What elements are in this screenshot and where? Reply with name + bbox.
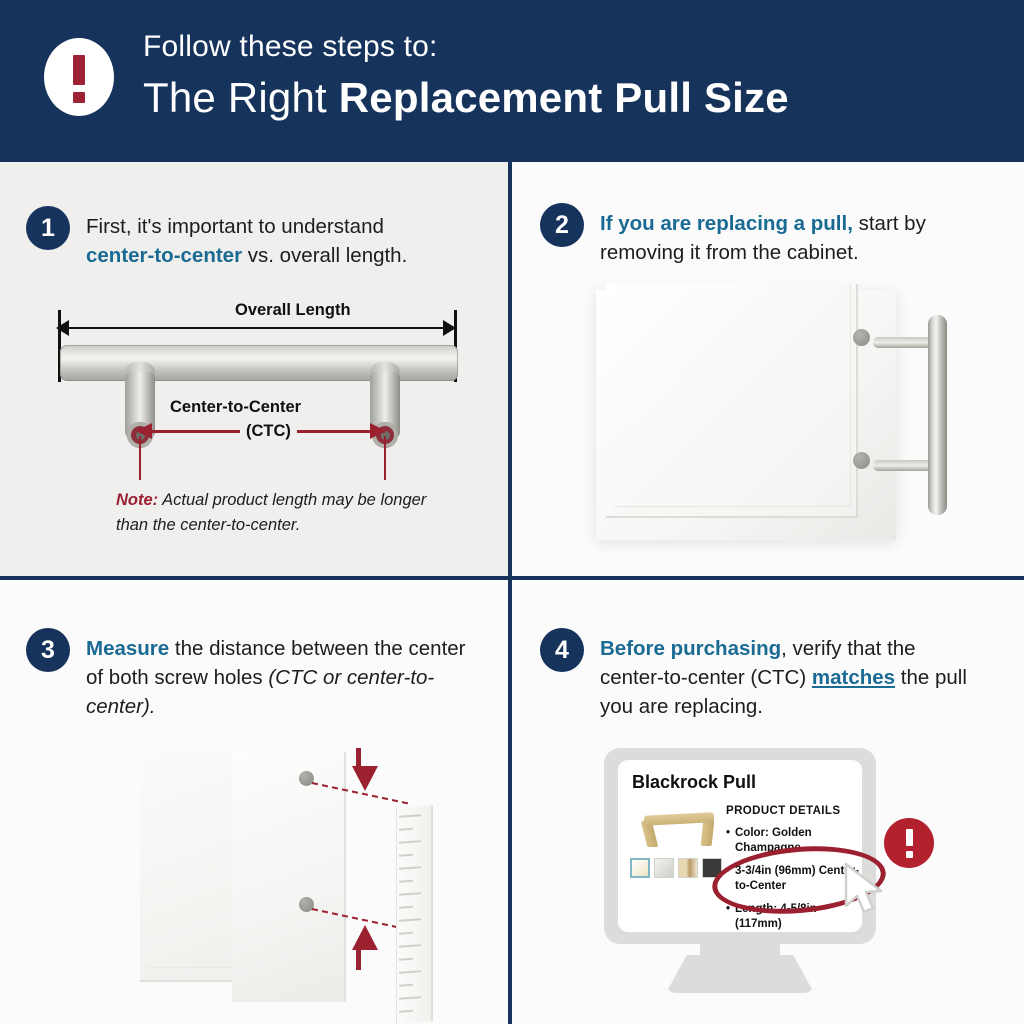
- overall-length-line: [58, 327, 456, 329]
- step-2-accent: If you are replacing a pull,: [600, 212, 853, 235]
- divider-vertical: [508, 158, 512, 1024]
- header-banner: Follow these steps to: The Right Replace…: [0, 0, 1024, 158]
- step-4-accent: Before purchasing: [600, 637, 781, 660]
- measure-door-front: [232, 752, 346, 1002]
- ruler-tick: [399, 958, 413, 961]
- ruler-tick: [399, 932, 413, 935]
- mouse-pointer-icon: [842, 862, 888, 916]
- ruler-tick: [399, 880, 413, 883]
- ruler-tick: [399, 970, 421, 974]
- product-thumbnail-1[interactable]: [630, 858, 650, 878]
- step-1-note: Note: Actual product length may be longe…: [116, 488, 456, 538]
- step-3-text: Measure the distance between the center …: [86, 634, 486, 721]
- measure-door-bevel: [148, 752, 245, 968]
- ruler-tick: [399, 892, 421, 896]
- ctc-label: Center-to-Center: [170, 398, 301, 417]
- overall-length-label: Overall Length: [228, 301, 358, 320]
- product-image: [636, 806, 722, 850]
- page-title-bold: Replacement Pull Size: [339, 74, 789, 121]
- divider-horizontal: [0, 576, 1024, 580]
- ruler-tick: [399, 984, 413, 987]
- step-1-line1: First, it's important to understand: [86, 215, 384, 238]
- overall-arrow-left-icon: [56, 320, 69, 336]
- ruler-tick: [399, 944, 421, 948]
- step-1-line2-rest: vs. overall length.: [242, 244, 407, 267]
- ruler-graphic: [396, 805, 433, 1024]
- ruler-tick: [399, 840, 421, 844]
- ruler-tick: [399, 1010, 413, 1013]
- pull-arm-top: [873, 337, 935, 348]
- monitor-stand-base: [666, 955, 814, 993]
- measure-arrow-up-icon: [352, 925, 378, 950]
- product-details-heading: PRODUCT DETAILS: [726, 805, 840, 817]
- step-4-number: 4: [540, 628, 584, 672]
- ruler-tick: [399, 918, 421, 922]
- step-1-text: First, it's important to understand cent…: [86, 212, 486, 270]
- exclamation-alert-icon-step4: [884, 818, 934, 868]
- note-body: Actual product length may be longer than…: [116, 491, 426, 534]
- header-eyebrow: Follow these steps to:: [143, 30, 438, 64]
- overall-arrow-right-icon: [443, 320, 456, 336]
- step-2-number: 2: [540, 203, 584, 247]
- product-thumbnail-strip[interactable]: [630, 858, 722, 878]
- ctc-arrow-left-icon: [136, 423, 152, 439]
- step-1-accent: center-to-center: [86, 244, 242, 267]
- note-label: Note:: [116, 491, 158, 509]
- ctc-drop-left: [139, 436, 141, 480]
- cabinet-screw-hole-top: [853, 329, 870, 346]
- step-2-text: If you are replacing a pull, start by re…: [600, 209, 970, 267]
- cabinet-door-inner-bevel: [614, 284, 851, 507]
- step-3-accent: Measure: [86, 637, 169, 660]
- page-title: The Right Replacement Pull Size: [143, 74, 789, 122]
- ruler-tick: [399, 828, 413, 831]
- ruler-tick: [399, 854, 413, 857]
- ruler-tick: [399, 906, 413, 909]
- cabinet-screw-hole-bottom: [853, 452, 870, 469]
- pull-arm-bottom: [873, 460, 935, 471]
- ctc-drop-right: [384, 436, 386, 480]
- ruler-tick: [399, 814, 421, 818]
- ctc-sub-label: (CTC): [240, 422, 297, 441]
- step-4-text: Before purchasing, verify that the cente…: [600, 634, 980, 721]
- page-title-plain: The Right: [143, 74, 339, 121]
- installed-pull-bar: [928, 315, 947, 515]
- product-title: Blackrock Pull: [632, 772, 756, 793]
- cabinet-door-graphic: [596, 290, 896, 540]
- exclamation-alert-icon: [44, 38, 114, 116]
- ruler-tick: [399, 996, 421, 1000]
- product-thumbnail-3[interactable]: [678, 858, 698, 878]
- matches-link[interactable]: matches: [812, 666, 895, 689]
- infographic-page: Follow these steps to: The Right Replace…: [0, 0, 1024, 1024]
- product-image-leg-right: [701, 820, 715, 846]
- measure-arrow-stem-bottom: [356, 948, 361, 970]
- bar-pull-diagram: Overall Length Center-to-Center (CTC): [50, 310, 470, 460]
- ruler-tick: [399, 866, 421, 870]
- step-1-number: 1: [26, 206, 70, 250]
- product-thumbnail-2[interactable]: [654, 858, 674, 878]
- ctc-arrow-right-icon: [370, 423, 386, 439]
- monitor-stand-neck: [700, 944, 780, 960]
- measure-arrow-down-icon: [352, 766, 378, 791]
- step-3-number: 3: [26, 628, 70, 672]
